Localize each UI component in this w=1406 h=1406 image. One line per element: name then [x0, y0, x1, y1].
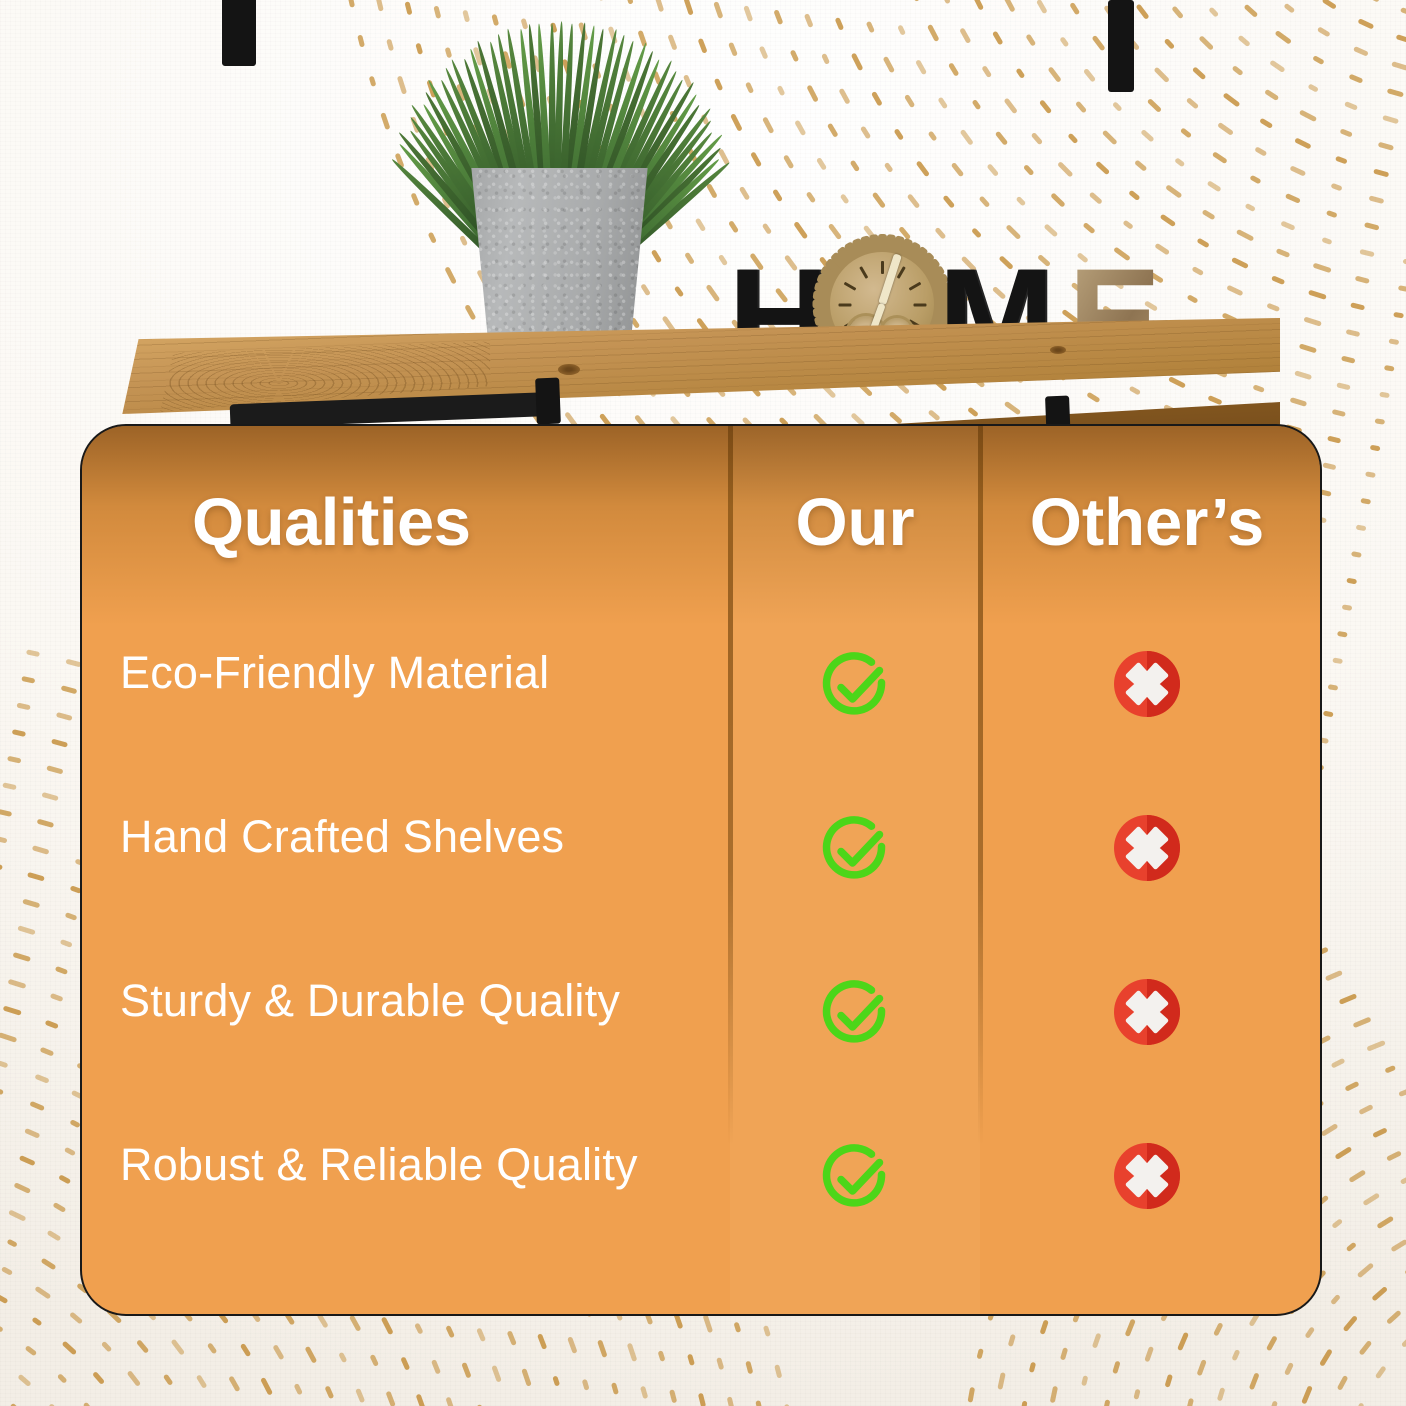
- feature-label: Robust & Reliable Quality: [120, 1136, 680, 1194]
- table-row: Eco-Friendly Material: [82, 642, 1320, 806]
- check-icon: [816, 976, 894, 1054]
- table-header-row: Qualities Our Other’s: [82, 484, 1320, 594]
- cross-icon: [1111, 1140, 1183, 1212]
- black-metal-bracket: [222, 0, 256, 66]
- table-row: Robust & Reliable Quality: [82, 1134, 1320, 1298]
- our-cell: [730, 976, 980, 1054]
- feature-label: Eco-Friendly Material: [120, 644, 680, 702]
- other-cell: [982, 812, 1312, 884]
- cross-icon: [1111, 976, 1183, 1048]
- check-icon: [816, 812, 894, 890]
- our-cell: [730, 648, 980, 726]
- black-metal-bracket: [535, 378, 561, 425]
- black-metal-bracket: [1108, 0, 1134, 92]
- table-row: Sturdy & Durable Quality: [82, 970, 1320, 1134]
- comparison-table-body: Eco-Friendly MaterialHand Crafted Shelve…: [82, 642, 1320, 1298]
- other-cell: [982, 976, 1312, 1048]
- check-icon: [816, 648, 894, 726]
- check-icon: [816, 1140, 894, 1218]
- shelf-wood-knot: [558, 364, 580, 375]
- cross-icon: [1111, 812, 1183, 884]
- infographic-canvas: H M E: [0, 0, 1406, 1406]
- cross-icon: [1111, 648, 1183, 720]
- potted-grass-plant: [392, 0, 752, 350]
- other-cell: [982, 1140, 1312, 1212]
- feature-label: Hand Crafted Shelves: [120, 808, 680, 866]
- table-row: Hand Crafted Shelves: [82, 806, 1320, 970]
- comparison-panel: Qualities Our Other’s Eco-Friendly Mater…: [80, 424, 1322, 1316]
- column-header-qualities: Qualities: [192, 484, 470, 561]
- column-header-others: Other’s: [982, 484, 1312, 561]
- other-cell: [982, 648, 1312, 720]
- our-cell: [730, 812, 980, 890]
- column-header-ours: Our: [730, 484, 980, 561]
- shelf-wood-knot: [1050, 346, 1066, 354]
- feature-label: Sturdy & Durable Quality: [120, 972, 680, 1030]
- our-cell: [730, 1140, 980, 1218]
